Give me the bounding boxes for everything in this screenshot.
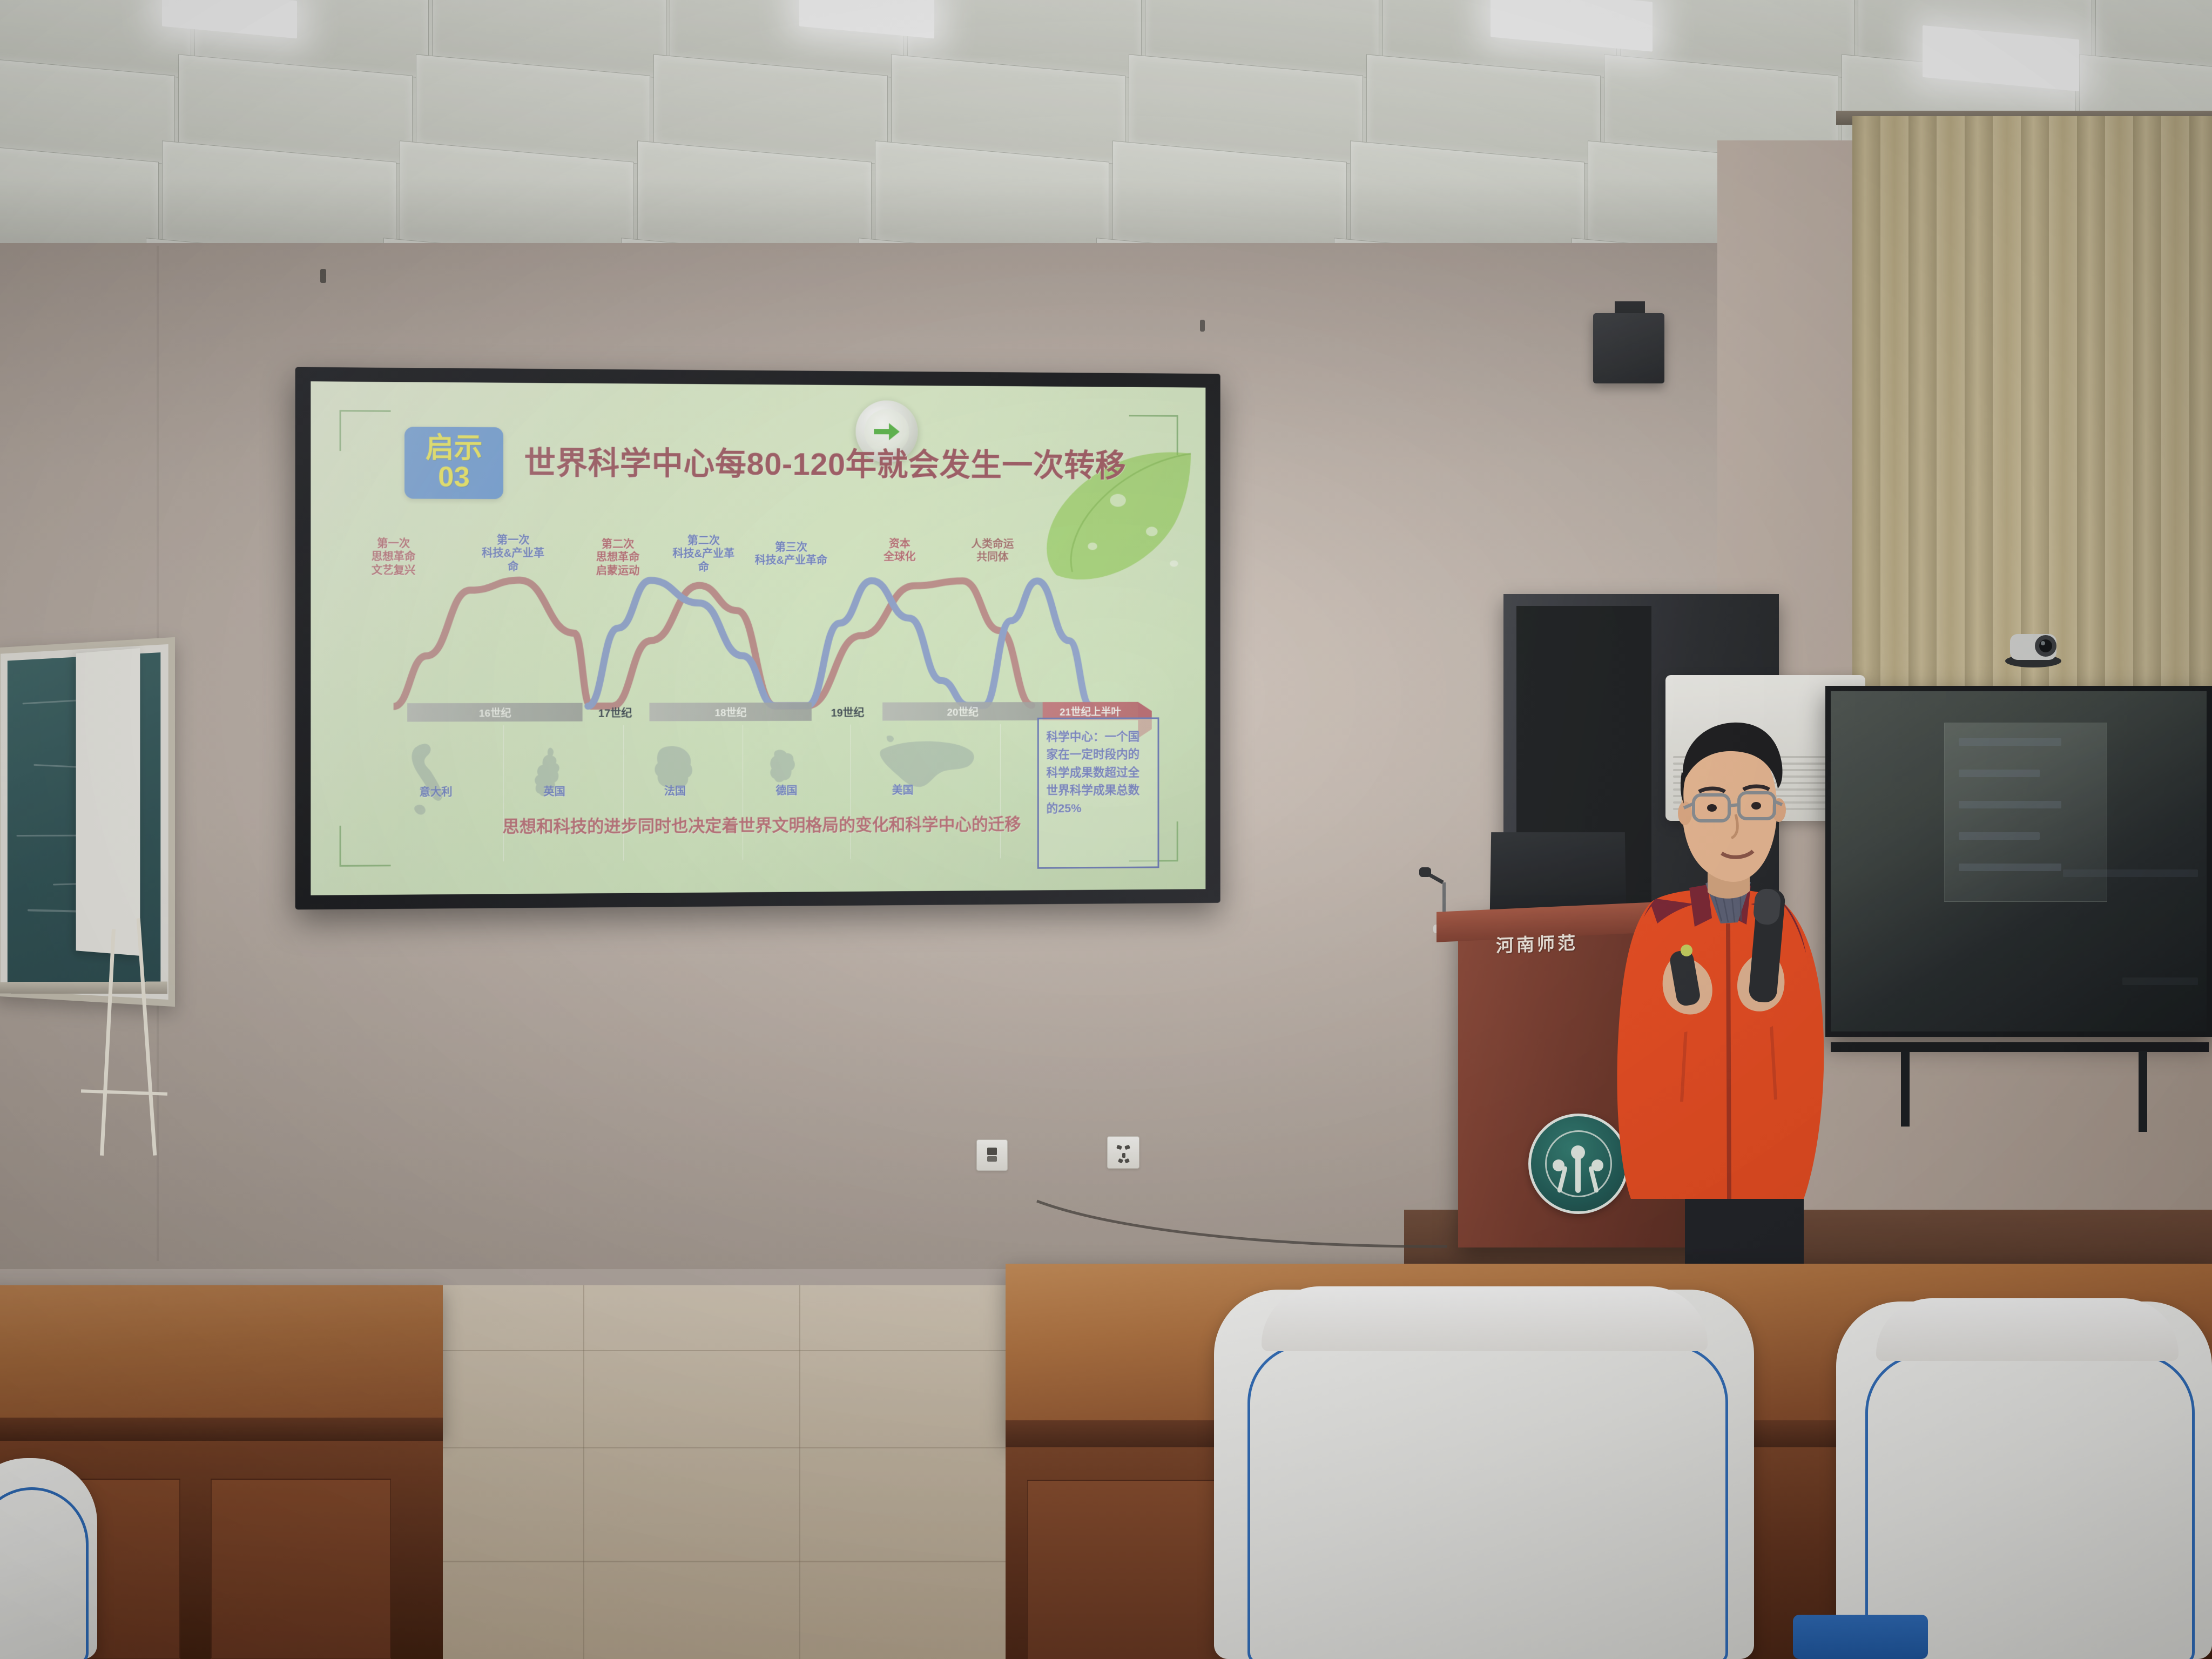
timeline-band-2: 18世纪 bbox=[649, 703, 811, 721]
timeline-label: 20世纪 bbox=[947, 704, 978, 719]
country-map-row: 意大利英国法国德国美国 bbox=[394, 730, 1032, 879]
projection-screen-frame: 启示 03 世界科学中心每80-120年就会发生一次转移 第一次思想革命文艺复兴… bbox=[295, 367, 1220, 910]
wave-label-6: 人类命运共同体 bbox=[955, 538, 1030, 564]
timeline-label: 21世纪上半叶 bbox=[1060, 704, 1121, 718]
badge-line-2: 03 bbox=[438, 463, 470, 492]
left-desk-edge bbox=[0, 1418, 443, 1444]
wave-label-4: 第三次科技&产业革命 bbox=[753, 541, 829, 568]
wave-label-5: 资本全球化 bbox=[862, 538, 937, 564]
century-timeline: 16世纪17世纪18世纪19世纪20世纪21世纪上半叶 bbox=[394, 700, 1128, 725]
badge-line-1: 启示 bbox=[426, 434, 483, 463]
slide-corner-tl bbox=[340, 410, 391, 451]
wall-hook-2 bbox=[1200, 320, 1205, 332]
chair-seat-blue[interactable] bbox=[1793, 1615, 1928, 1659]
data-port-plate[interactable] bbox=[976, 1139, 1008, 1171]
timeline-band-0: 16世纪 bbox=[407, 703, 582, 722]
wave-series-1 bbox=[588, 580, 1090, 706]
wave-label-3: 第二次科技&产业革命 bbox=[666, 534, 741, 574]
timeline-tick-1: 17世纪 bbox=[585, 703, 645, 721]
power-socket-plate[interactable] bbox=[1107, 1136, 1139, 1169]
wall-hook bbox=[320, 269, 326, 283]
wave-label-group: 第一次思想革命文艺复兴第一次科技&产业革命第二次思想革命启蒙运动第二次科技&产业… bbox=[311, 381, 1205, 388]
timeline-label: 19世纪 bbox=[831, 704, 865, 719]
map-divider-2 bbox=[743, 725, 743, 860]
slide-footer-caption: 思想和科技的进步同时也决定着世界文明格局的变化和科学中心的迁移 bbox=[311, 810, 1205, 838]
chair-front-right[interactable] bbox=[1836, 1301, 2212, 1659]
presenter bbox=[1550, 670, 1928, 1274]
wave-label-1: 第一次科技&产业革命 bbox=[475, 534, 551, 574]
timeline-label: 18世纪 bbox=[714, 705, 746, 719]
left-desk-top bbox=[0, 1285, 443, 1437]
timeline-tick-3: 19世纪 bbox=[818, 703, 877, 721]
floor-cable bbox=[1015, 1188, 1458, 1264]
ptz-camera-icon bbox=[1998, 621, 2068, 667]
slide-badge: 启示 03 bbox=[404, 427, 503, 499]
country-label-3: 德国 bbox=[776, 782, 798, 798]
chair-front-left[interactable] bbox=[1214, 1290, 1754, 1659]
country-label-0: 意大利 bbox=[420, 783, 453, 799]
wave-label-2: 第二次思想革命启蒙运动 bbox=[580, 538, 656, 578]
floor bbox=[421, 1285, 1026, 1659]
callout-text: 科学中心：一个国家在一定时段内的科学成果数超过全世界科学成果总数的25% bbox=[1047, 727, 1150, 817]
wave-series-0 bbox=[394, 580, 1032, 706]
map-divider-4 bbox=[1000, 724, 1001, 858]
slide-title: 世界科学中心每80-120年就会发生一次转移 bbox=[524, 437, 999, 485]
map-divider-1 bbox=[623, 725, 624, 861]
map-divider-3 bbox=[850, 725, 851, 859]
country-label-4: 美国 bbox=[892, 781, 914, 797]
flipchart-board bbox=[76, 648, 140, 956]
wall-speaker bbox=[1593, 313, 1664, 383]
map-divider-0 bbox=[503, 725, 504, 861]
country-label-2: 法国 bbox=[664, 783, 686, 798]
country-label-1: 英国 bbox=[543, 783, 565, 798]
timeline-label: 16世纪 bbox=[479, 705, 511, 719]
timeline-label: 17世纪 bbox=[598, 704, 632, 720]
projected-slide: 启示 03 世界科学中心每80-120年就会发生一次转移 第一次思想革命文艺复兴… bbox=[311, 381, 1205, 895]
chair-left-edge[interactable] bbox=[0, 1458, 97, 1659]
timeline-band-4: 20世纪 bbox=[882, 702, 1043, 720]
science-center-waves-chart bbox=[394, 576, 1112, 712]
wave-label-0: 第一次思想革命文艺复兴 bbox=[355, 537, 432, 577]
classroom-photo: 启示 03 世界科学中心每80-120年就会发生一次转移 第一次思想革命文艺复兴… bbox=[0, 0, 2212, 1659]
science-center-definition-callout: 科学中心：一个国家在一定时段内的科学成果数超过全世界科学成果总数的25% bbox=[1037, 717, 1159, 868]
